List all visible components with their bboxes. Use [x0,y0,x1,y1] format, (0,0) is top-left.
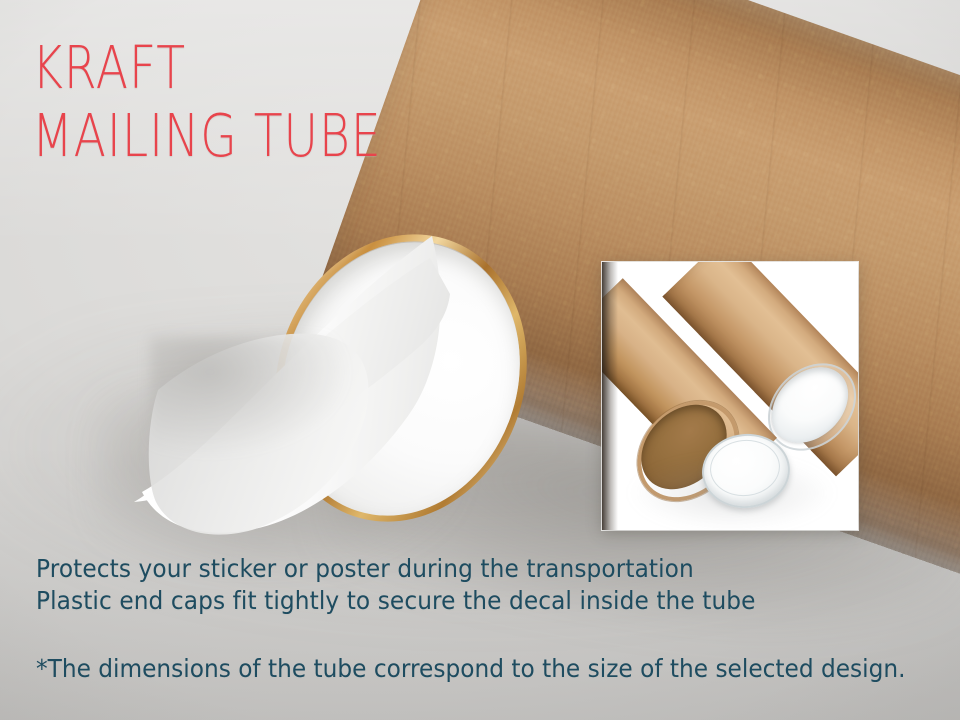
product-photo-inset[interactable] [602,262,858,530]
product-banner: KRAFT MAILING TUBE Protects your sticker… [0,0,960,720]
page-title: KRAFT MAILING TUBE [32,34,382,170]
inset-photo-canvas [602,262,858,530]
footnote-text: *The dimensions of the tube correspond t… [36,653,905,685]
feature-text: Protects your sticker or poster during t… [36,553,756,617]
